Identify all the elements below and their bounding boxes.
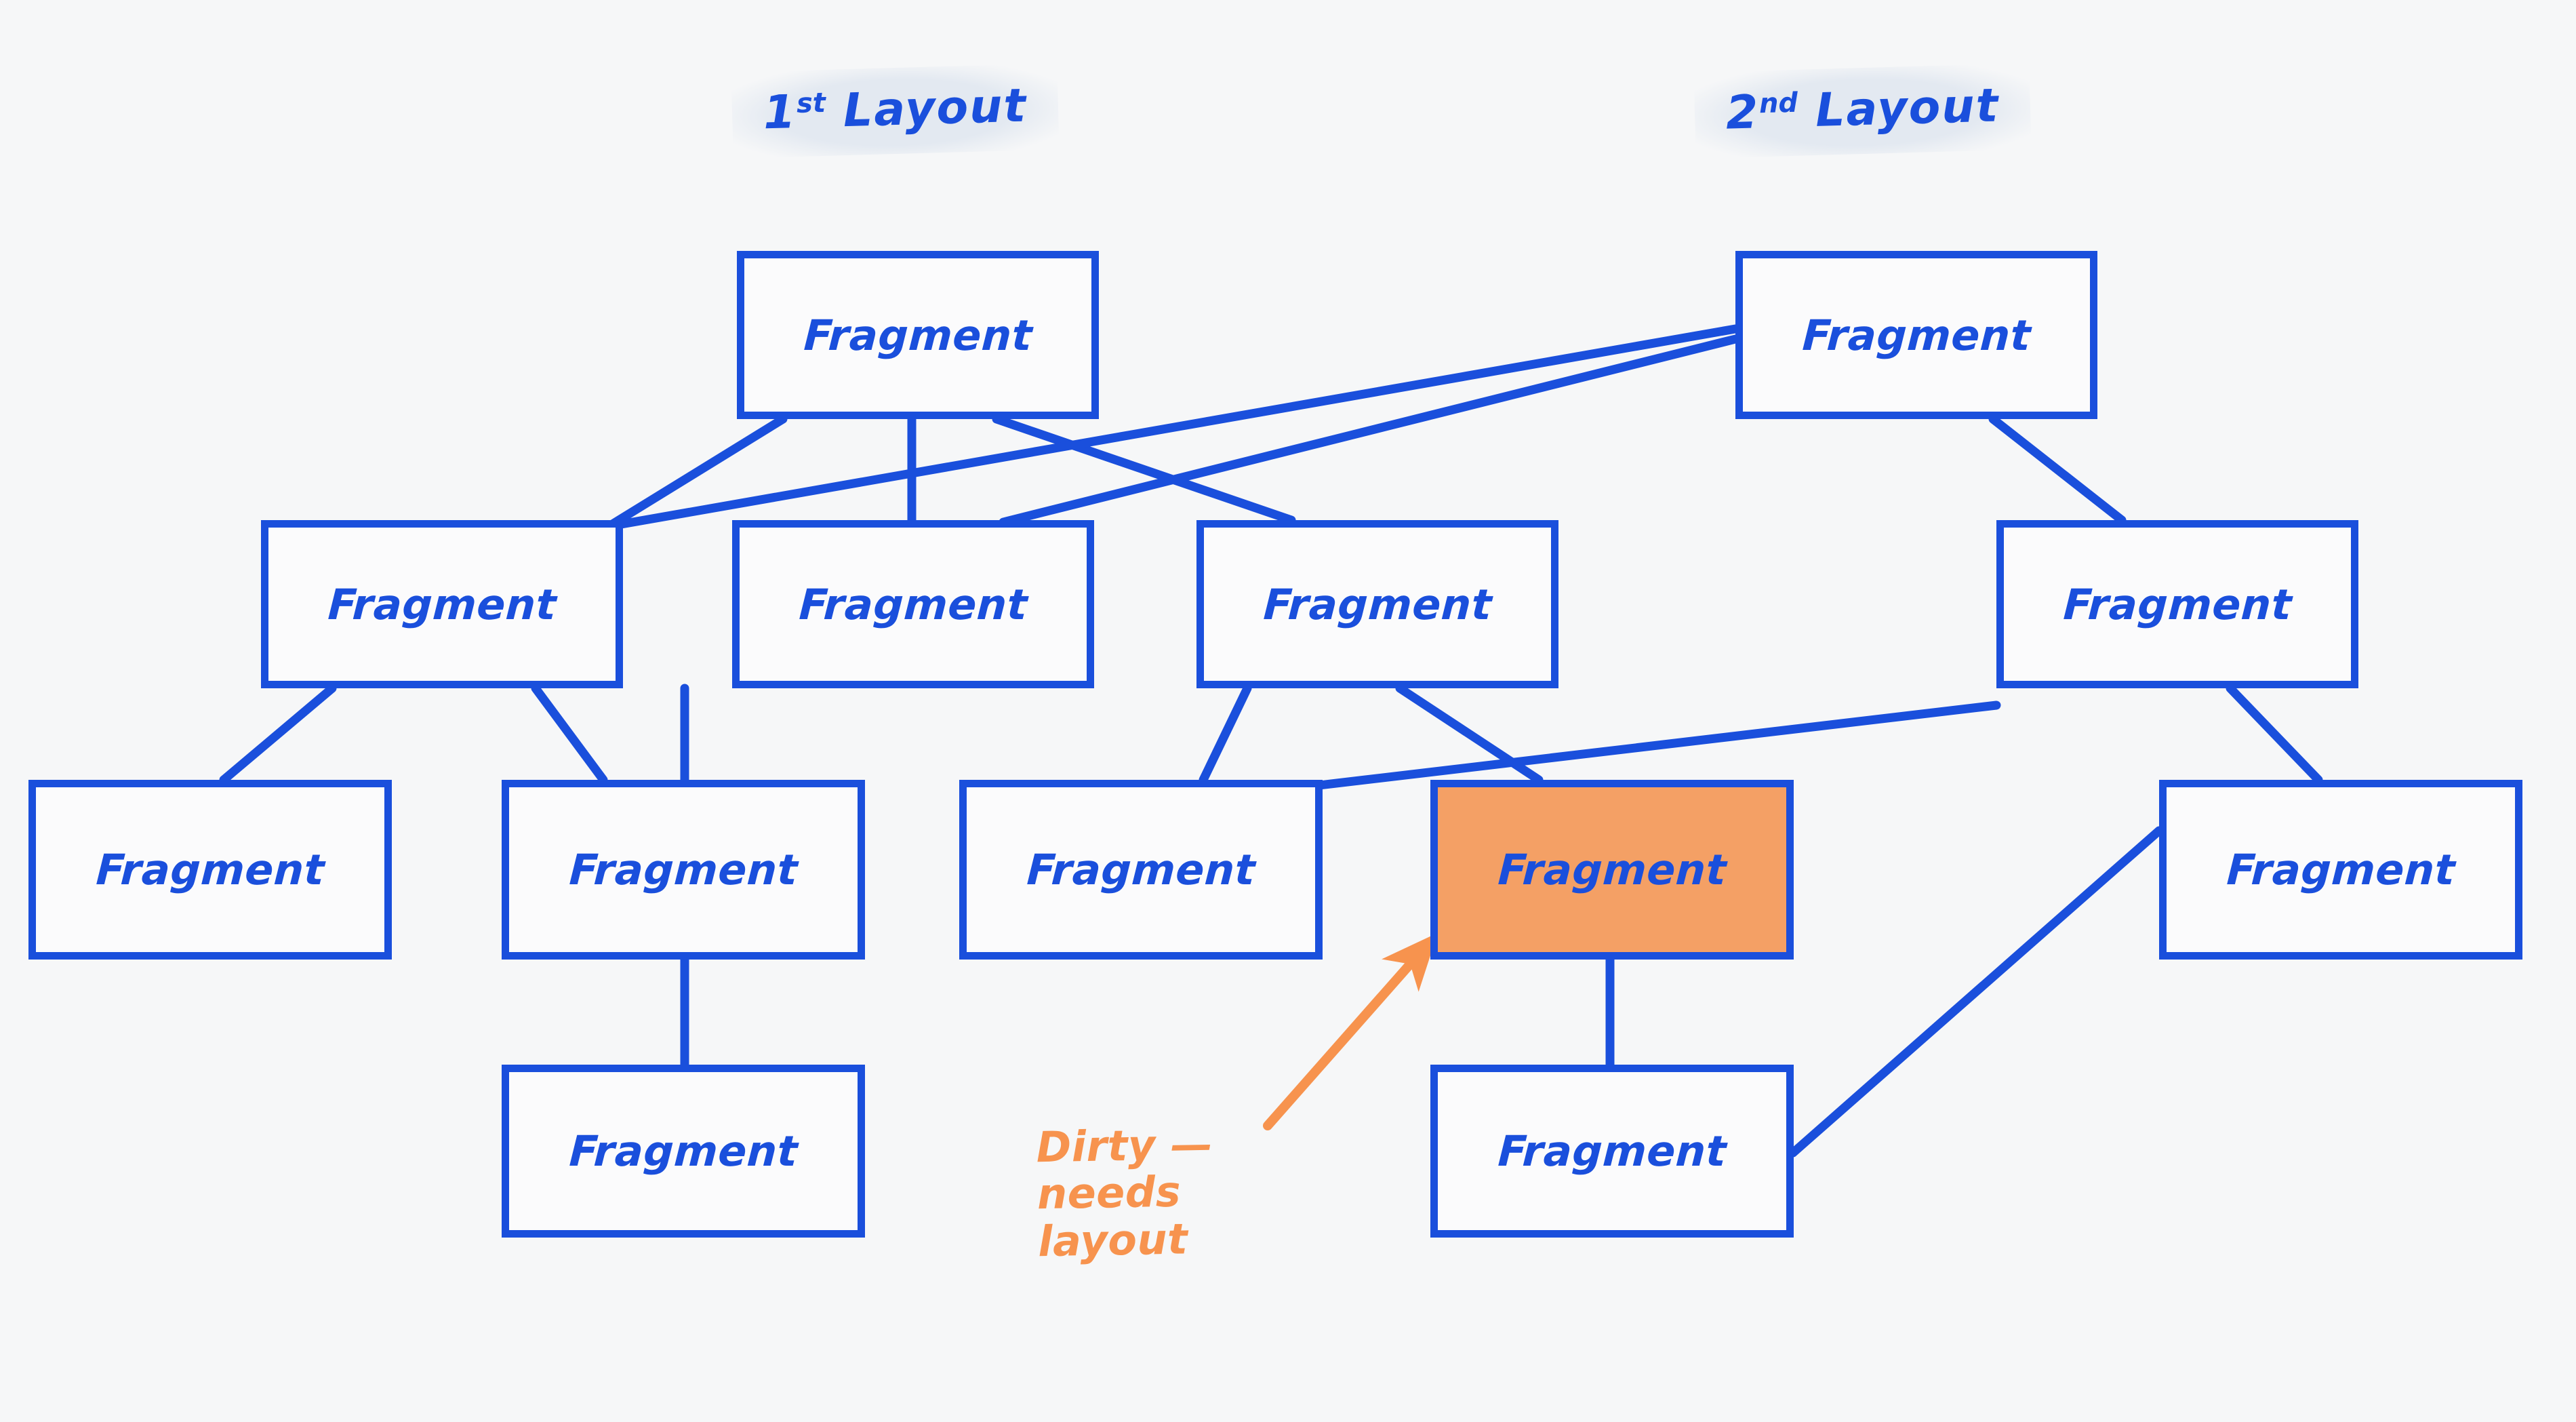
edge-n-a-l1-1-to-n-a-l2-1 xyxy=(224,688,332,780)
edge-n-b-root-to-n-a-l1-2 xyxy=(1003,339,1735,522)
diagram-canvas: 1st Layout2nd Layout FragmentFragmentFra… xyxy=(0,0,2576,1422)
fragment-node[interactable]: Fragment xyxy=(732,520,1094,688)
edge-n-b-l1-1-to-n-b-l2-1 xyxy=(2230,688,2318,780)
section-ordinal-suffix: nd xyxy=(1758,87,1798,120)
fragment-node-label: Fragment xyxy=(2226,845,2457,894)
fragment-node-label: Fragment xyxy=(798,580,1029,629)
section-ordinal: 2 xyxy=(1725,85,1760,140)
fragment-node-label: Fragment xyxy=(1801,311,2032,360)
fragment-node-label: Fragment xyxy=(1497,845,1728,894)
fragment-node[interactable]: Fragment xyxy=(1996,520,2358,688)
fragment-node[interactable]: Fragment xyxy=(959,780,1323,960)
edge-n-a-l1-3-to-n-a-l2-3 xyxy=(1203,688,1247,780)
section-ordinal: 1 xyxy=(763,85,798,140)
annotation-arrow-group xyxy=(1268,953,1420,1126)
fragment-node-label: Fragment xyxy=(2062,580,2293,629)
fragment-node-label: Fragment xyxy=(1497,1126,1728,1176)
edge-n-a-root-to-n-a-l1-3 xyxy=(997,419,1291,520)
fragment-node-label: Fragment xyxy=(568,1126,799,1176)
fragment-node[interactable]: Fragment xyxy=(1735,251,2097,419)
fragment-node[interactable]: Fragment xyxy=(2159,780,2522,960)
fragment-node-label: Fragment xyxy=(803,311,1034,360)
edge-layer xyxy=(0,0,2576,1422)
fragment-node-label: Fragment xyxy=(1026,845,1257,894)
fragment-node[interactable]: Fragment xyxy=(1196,520,1558,688)
dirty-arrow xyxy=(1268,953,1420,1126)
edge-n-b-l2-1-to-n-a-l3-2 xyxy=(1793,831,2159,1153)
edge-n-b-root-to-n-b-l1-1 xyxy=(1993,419,2122,520)
fragment-node[interactable]: Fragment xyxy=(1430,1065,1794,1238)
fragment-node-label: Fragment xyxy=(1262,580,1493,629)
section-ordinal-suffix: st xyxy=(796,87,826,119)
section-label: Layout xyxy=(825,79,1028,138)
fragment-node-label: Fragment xyxy=(95,845,326,894)
fragment-node[interactable]: Fragment xyxy=(261,520,623,688)
section-title-layout-2: 2nd Layout xyxy=(1693,63,2032,159)
fragment-node[interactable]: Fragment xyxy=(502,780,865,960)
fragment-node[interactable]: Fragment xyxy=(737,251,1099,419)
fragment-node[interactable]: Fragment xyxy=(28,780,392,960)
edge-n-a-root-to-n-a-l1-1 xyxy=(610,419,783,526)
dirty-needs-layout-annotation: Dirty — needs layout xyxy=(1036,1121,1215,1265)
fragment-node-label: Fragment xyxy=(568,845,799,894)
edge-n-a-l1-1-to-n-a-l2-2 xyxy=(536,688,603,780)
section-label: Layout xyxy=(1797,79,2000,138)
fragment-node-dirty[interactable]: Fragment xyxy=(1430,780,1794,960)
fragment-node[interactable]: Fragment xyxy=(502,1065,865,1238)
edge-n-a-l1-3-to-n-a-l2-4 xyxy=(1400,688,1539,780)
section-title-layout-1: 1st Layout xyxy=(731,63,1059,158)
fragment-node-label: Fragment xyxy=(327,580,558,629)
connector-lines xyxy=(224,329,2318,1153)
